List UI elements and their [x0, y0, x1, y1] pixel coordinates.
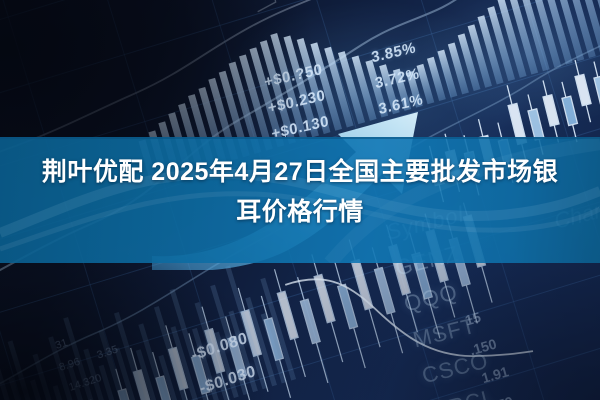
title-line-2: 耳价格行情	[0, 192, 600, 232]
title-line-1: 荆叶优配 2025年4月27日全国主要批发市场银	[0, 152, 600, 192]
band-top-edge	[0, 137, 600, 139]
page-title: 荆叶优配 2025年4月27日全国主要批发市场银 耳价格行情	[0, 152, 600, 232]
banner-image: .02 .45 .11 3.07 .2.50 .9.38 .85 47.20 .…	[0, 0, 600, 400]
